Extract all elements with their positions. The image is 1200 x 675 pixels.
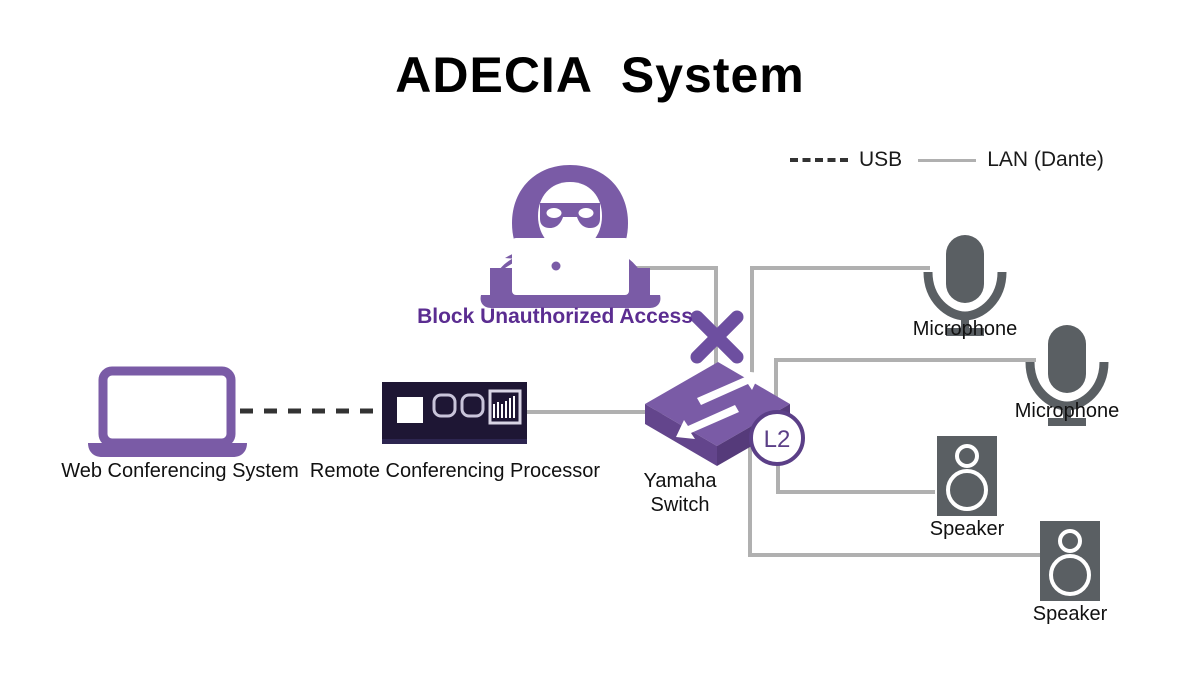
network-switch-icon: L2 (645, 362, 803, 466)
label-remote-conferencing-processor: Remote Conferencing Processor (305, 460, 605, 484)
speaker-icon-2 (1040, 521, 1100, 601)
label-yamaha-switch: Yamaha Switch (598, 470, 762, 517)
label-web-conferencing-system: Web Conferencing System (30, 460, 330, 484)
rack-processor-icon (382, 382, 527, 444)
switch-l2-badge-text: L2 (764, 426, 791, 453)
laptop-icon (88, 371, 247, 457)
label-microphone-1: Microphone (885, 318, 1045, 342)
label-microphone-2: Microphone (987, 400, 1147, 424)
label-speaker-1: Speaker (887, 518, 1047, 542)
speaker-icon-1 (937, 436, 997, 516)
hacker-icon (481, 165, 661, 308)
label-speaker-2: Speaker (990, 603, 1150, 627)
label-block-unauthorized-access: Block Unauthorized Access (385, 305, 725, 329)
diagram-canvas: ADECIA System USB LAN (Dante) (0, 0, 1200, 675)
